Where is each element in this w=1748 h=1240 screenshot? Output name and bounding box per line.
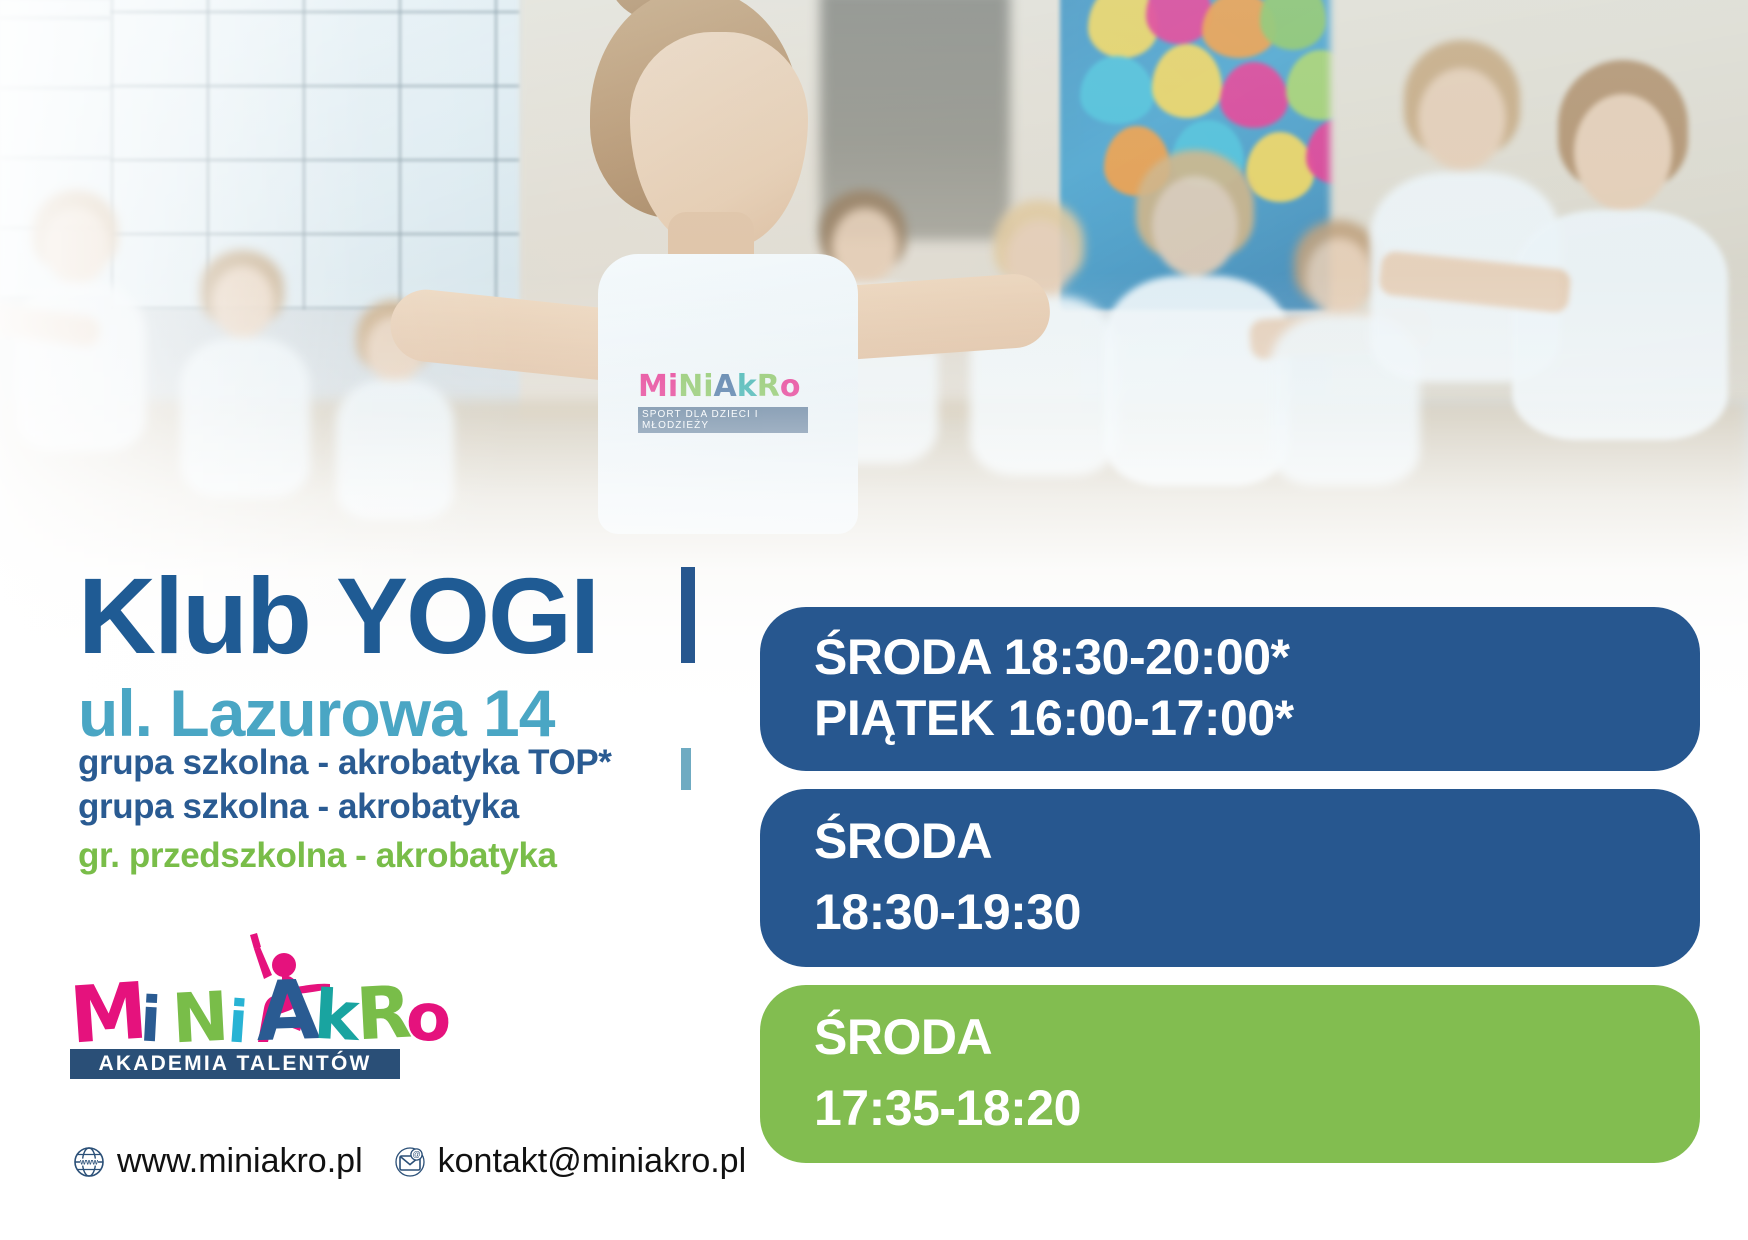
schedule-line: PIĄTEK 16:00-17:00* [814,688,1700,749]
schedule-day: ŚRODA [814,811,1700,872]
accent-bar-left [681,567,695,663]
address-line: ul. Lazurowa 14 [78,680,554,746]
schedule-cards: ŚRODA 18:30-20:00* PIĄTEK 16:00-17:00* Ś… [760,607,1700,1181]
group-line-przedszkolna: gr. przedszkolna - akrobatyka [78,838,612,873]
group-line-akrobatyka-top: grupa szkolna - akrobatyka TOP* [78,745,612,780]
globe-icon: WWW [72,1145,106,1179]
website-text[interactable]: www.miniakro.pl [117,1142,363,1181]
poster-content: Klub YOGI ul. Lazurowa 14 grupa szkolna … [0,0,1748,1240]
schedule-line: ŚRODA 18:30-20:00* [814,627,1700,688]
schedule-time: 18:30-19:30 [814,882,1700,943]
schedule-day: ŚRODA [814,1007,1700,1068]
svg-text:@: @ [412,1150,420,1159]
contact-row: WWW www.miniakro.pl @ kontakt@miniakro.p… [72,1142,746,1181]
logo-letter-o: o [405,984,453,1052]
logo-letter-N: N [170,984,230,1055]
poster: MiNiAkRo SPORT DLA DZIECI I MŁODZIEŻY Kl… [0,0,1748,1240]
logo-wordmark: M i N i A k R o [68,963,408,1047]
schedule-card-przedszkolna[interactable]: ŚRODA 17:35-18:20 [760,985,1700,1163]
schedule-card-akrobatyka-top[interactable]: ŚRODA 18:30-20:00* PIĄTEK 16:00-17:00* [760,607,1700,771]
logo-letter-A: A [255,970,321,1054]
logo-letter-i-1: i [138,988,162,1051]
group-list: grupa szkolna - akrobatyka TOP* grupa sz… [78,745,612,882]
logo-banner-text: AKADEMIA TALENTÓW [98,1052,371,1076]
accent-bar-left-secondary [681,748,691,790]
group-line-akrobatyka: grupa szkolna - akrobatyka [78,789,612,824]
schedule-card-akrobatyka[interactable]: ŚRODA 18:30-19:30 [760,789,1700,967]
email-text[interactable]: kontakt@miniakro.pl [438,1142,747,1181]
schedule-time: 17:35-18:20 [814,1078,1700,1139]
svg-text:WWW: WWW [80,1159,99,1166]
envelope-icon: @ [393,1145,427,1179]
logo-letter-k: k [312,982,361,1052]
page-title: Klub YOGI [78,562,598,670]
logo-banner: AKADEMIA TALENTÓW [70,1049,400,1079]
logo-letter-i-2: i [226,992,250,1051]
miniakro-logo: M i N i A k R o AKADEMIA TALENTÓW [68,963,408,1073]
